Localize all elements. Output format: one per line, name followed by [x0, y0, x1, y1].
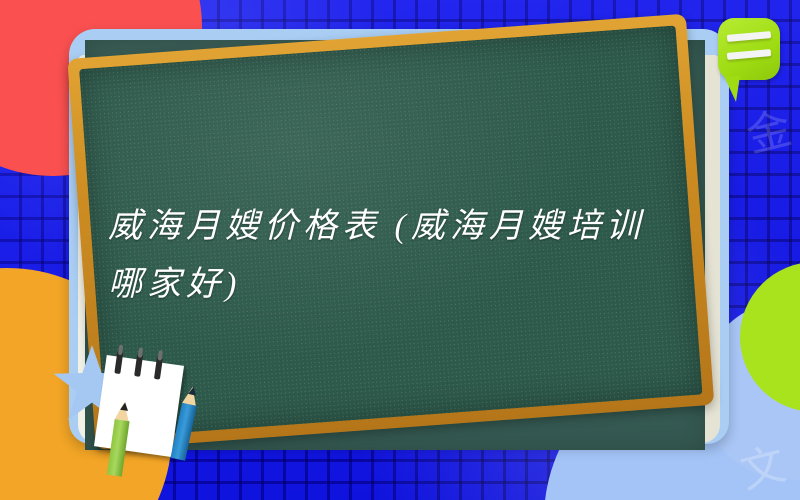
- pencil-lead: [188, 386, 197, 395]
- pencil-lead: [120, 402, 129, 411]
- stationery-group: [86, 354, 210, 450]
- speech-bubble-line: [727, 49, 771, 60]
- speech-bubble-line: [727, 31, 771, 42]
- speech-bubble-icon: [718, 18, 780, 80]
- page-title: 威海月嫂价格表 (威海月嫂培训哪家好): [108, 198, 648, 314]
- banner-canvas: 金 文 威海月嫂价格表 (威海月嫂培训哪家好): [0, 0, 800, 500]
- spiral-ring-icon: [114, 351, 123, 374]
- notepad-icon: [94, 355, 184, 457]
- spiral-ring-icon: [134, 354, 143, 377]
- spiral-ring-icon: [154, 357, 163, 380]
